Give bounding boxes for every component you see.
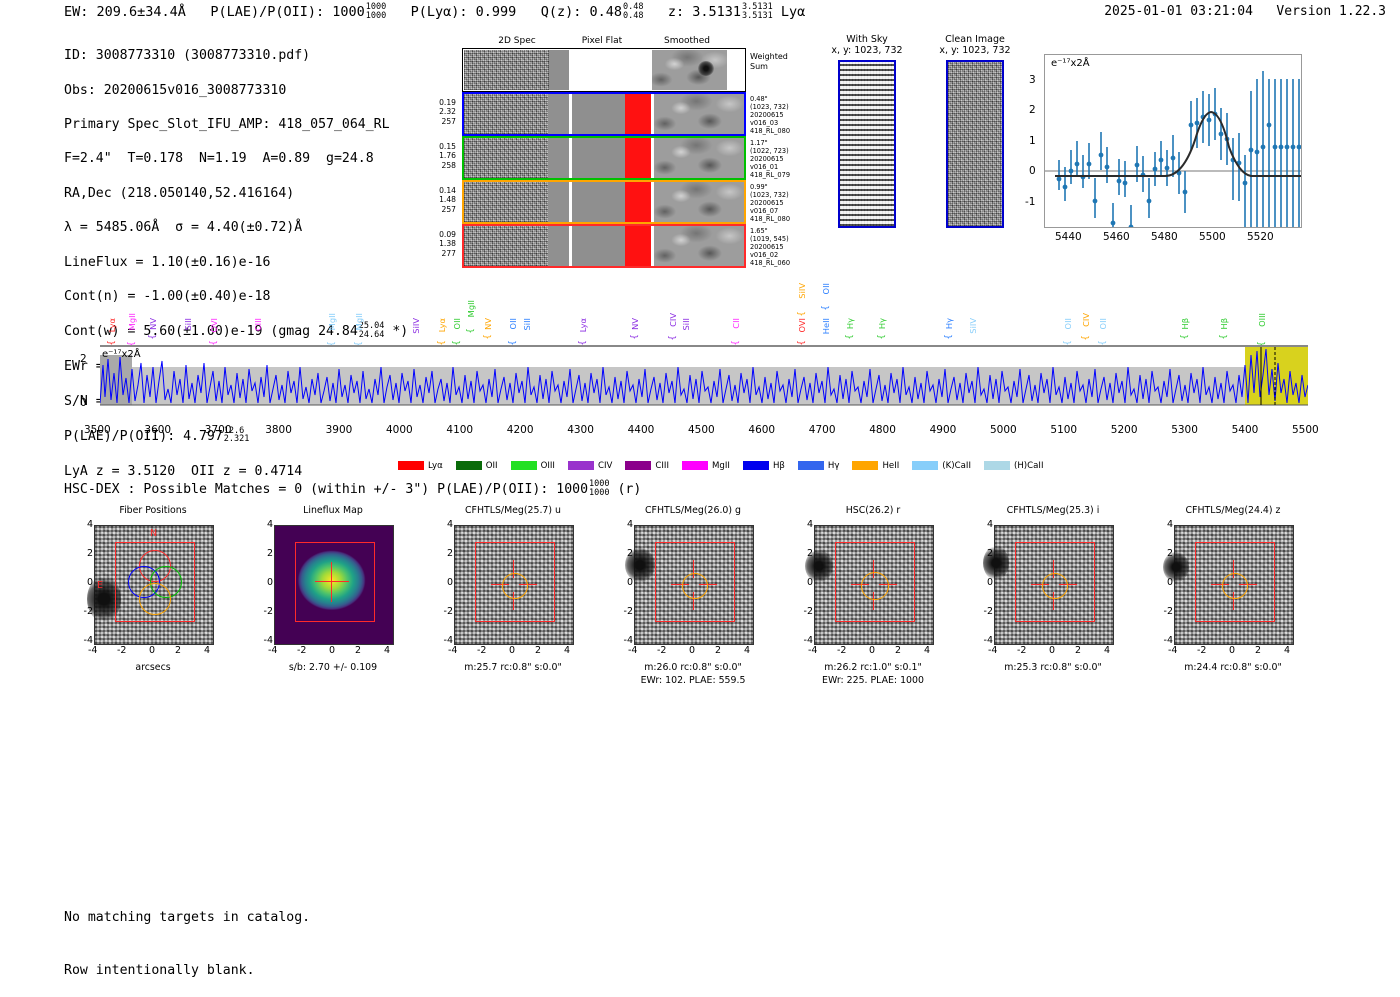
spectrum-xtick: 3900 [326,424,353,436]
cutout-title: CFHTLS/Meg(25.7) u [423,505,603,516]
spectrum-xtick: 3800 [265,424,292,436]
spectrum-line-bracket: { [877,334,887,340]
cutout-xtick: -4 [628,645,637,656]
spectrum-xtick: 5200 [1111,424,1138,436]
compass-north-label: N [150,528,157,539]
footer-line-2: Row intentionally blank. [64,962,310,980]
cutout-xtick: -4 [88,645,97,656]
cutout-panel-z-band: CFHTLS/Meg(24.4) z 4 2 0 -2 -4 -4 -2 0 2… [1143,505,1323,516]
cutout-caption: m:26.0 rc:0.8" s:0.0" [603,662,783,673]
cutout-title: HSC(26.2) r [783,505,963,516]
cutout-xtick: -2 [657,645,666,656]
cutout-xtick: 0 [509,645,515,656]
cutout-xtick: 2 [1075,645,1081,656]
cutout-yticks: 4 2 0 -2 -4 [251,525,273,643]
cutout-ytick: 4 [627,519,633,530]
cutout-ytick: -2 [444,606,453,617]
cutout-ytick: 2 [1167,548,1173,559]
cutout-panel-lineflux-map: Lineflux Map 4 2 0 -2 -4 -4 -2 0 2 4 s/b… [243,505,423,516]
spectrum-line-marker: CIV [668,313,678,327]
spectrum-line-marker: Hβ [1180,318,1190,330]
spectrum-xtick: 4400 [628,424,655,436]
spectrum-line-marker: Lyα [107,318,117,332]
spectrum-xtick: 5500 [1292,424,1319,436]
legend-label: Hβ [773,461,785,471]
cutout-image [454,525,574,645]
cutout-image [814,525,934,645]
cutout-yticks: 4 2 0 -2 -4 [791,525,813,643]
cutout-ytick: 0 [1167,577,1173,588]
spectrum-line-bracket: { [466,328,476,334]
spectrum-xtick: 4500 [688,424,715,436]
spectrum-line-marker: SiIV [411,318,421,334]
cutout-caption: m:24.4 rc:0.8" s:0.0" [1143,662,1323,673]
spectrum-xtick: 4700 [809,424,836,436]
cutout-ytick: 2 [447,548,453,559]
cutout-xtick: 0 [689,645,695,656]
spectrum-ylabel: e⁻¹⁷x2Å [102,349,141,360]
cutout-xtick: 4 [924,645,930,656]
compass-east-label: E [97,580,103,591]
cutout-ytick: 4 [267,519,273,530]
cutout-caption: s/b: 2.70 +/- 0.109 [243,662,423,673]
spectrum-line-bracket: { [1180,334,1190,340]
spectrum-line-marker: CIII [253,318,263,331]
cutout-title: CFHTLS/Meg(26.0) g [603,505,783,516]
aperture-circle [1222,573,1248,599]
cutout-ytick: 4 [987,519,993,530]
cutout-ytick: 4 [1167,519,1173,530]
legend-label: OIII [541,461,555,471]
spectrum-xticks: 3500360037003800390040004100420043004400… [100,424,1308,440]
cutout-ytick: 4 [87,519,93,530]
spectrum-xtick: 3500 [84,424,111,436]
cutout-ytick: 0 [87,577,93,588]
spectrum-line-marker: SiII [681,318,691,330]
spectrum-line-bracket: { [668,335,678,341]
aperture-circle [502,573,528,599]
cutout-xtick: 4 [1284,645,1290,656]
cutout-caption: m:25.3 rc:0.8" s:0.0" [963,662,1143,673]
spectrum-xtick: 4600 [748,424,775,436]
spectrum-line-bracket: { [483,334,493,340]
cutout-caption: m:26.2 rc:1.0" s:0.1" [783,662,963,673]
cutout-yticks: 4 2 0 -2 -4 [431,525,453,643]
cutout-xtick: -2 [1197,645,1206,656]
legend-swatch [984,461,1010,470]
cutout-row: Fiber Positions N E 4 2 0 -2 -4 -4 -2 0 … [0,505,1400,740]
cutout-xtick: -4 [268,645,277,656]
fiber-circle-orange [139,583,171,615]
cutout-xtick: 4 [744,645,750,656]
spectrum-line-bracket: { [630,334,640,340]
cutout-xtick: -4 [448,645,457,656]
spectrum-line-marker: MgII [327,313,337,330]
spectrum-line-bracket: { [1219,334,1229,340]
cutout-xtick: 2 [355,645,361,656]
spectrum-line-marker: OVI [797,318,807,333]
cutout-caption: arcsecs [63,662,243,673]
legend-label: MgII [712,461,730,471]
cutout-image [634,525,754,645]
spectrum-line-marker: OII [821,283,831,294]
cutout-image [1174,525,1294,645]
spectrum-line-bracket: { [797,311,807,317]
spectrum-xtick: 3700 [205,424,232,436]
spectrum-line-marker: OIII [1257,313,1267,327]
spectrum-chart: e⁻¹⁷x2Å 2 0 [100,345,1308,420]
legend-swatch [798,461,824,470]
cutout-xtick: -2 [1017,645,1026,656]
cutout-yticks: 4 2 0 -2 -4 [611,525,633,643]
spectrum-legend: LyαOIIOIIICIVCIIIMgIIHβHγHeII(K)CaII(H)C… [398,455,1018,469]
cutout-xtick: 4 [384,645,390,656]
spectrum-line-marker: NV [483,318,493,330]
info-redshifts: LyA z = 3.5120 OII z = 0.4714 [64,463,408,480]
spectrum-line-marker: Lyα [437,318,447,332]
spectrum-line-marker: MgII [354,313,364,330]
spectrum-line-bracket: { [1081,335,1091,341]
cutout-title: CFHTLS/Meg(25.3) i [963,505,1143,516]
cutout-ytick: -2 [984,606,993,617]
cutout-yticks: 4 2 0 -2 -4 [971,525,993,643]
spectrum-line-bracket: { [148,334,158,340]
cutout-caption-secondary: EWr: 225. PLAE: 1000 [783,675,963,686]
aperture-circle [682,573,708,599]
legend-label: CIV [598,461,612,471]
spectrum-line-marker: MgII [466,300,476,317]
spectrum-line-marker: Hγ [845,318,855,329]
cutout-xtick: 0 [869,645,875,656]
cutout-caption-secondary: EWr: 102. PLAE: 559.5 [603,675,783,686]
footer-note: No matching targets in catalog. Row inte… [64,874,310,997]
legend-swatch [568,461,594,470]
spectrum-line-marker: SiII [183,318,193,330]
cutout-yticks: 4 2 0 -2 -4 [71,525,93,643]
spectrum-xtick: 4000 [386,424,413,436]
crosshair-horizontal [315,581,349,582]
spectrum-line-marker: Lyα [578,318,588,332]
spectrum-xtick: 5400 [1232,424,1259,436]
cutout-image [274,525,394,645]
cutout-ytick: 0 [807,577,813,588]
cutout-panel-fiber-positions: Fiber Positions N E 4 2 0 -2 -4 -4 -2 0 … [63,505,243,516]
cutout-xtick: 2 [1255,645,1261,656]
spectrum-line-bracket: { [845,334,855,340]
hscdex-post: (r) [617,482,641,497]
cutout-xtick: -2 [477,645,486,656]
hscdex-summary: HSC-DEX : Possible Matches = 0 (within +… [64,480,641,497]
cutout-panel-i-band: CFHTLS/Meg(25.3) i 4 2 0 -2 -4 -4 -2 0 2… [963,505,1143,516]
spectrum-line-marker: NV [148,318,158,330]
cutout-yticks: 4 2 0 -2 -4 [1151,525,1173,643]
cutout-image [994,525,1114,645]
spectrum-line-marker: SiII [522,318,532,330]
spectrum-line-marker: OII [508,318,518,329]
spectrum-xtick: 5300 [1171,424,1198,436]
cutout-panel-g-band: CFHTLS/Meg(26.0) g 4 2 0 -2 -4 -4 -2 0 2… [603,505,783,516]
cutout-ytick: 4 [807,519,813,530]
spectrum-line-marker: Hγ [944,318,954,329]
legend-label: CIII [655,461,669,471]
legend-swatch [398,461,424,470]
cutout-xtick: 2 [175,645,181,656]
cutout-panel-u-band: CFHTLS/Meg(25.7) u 4 2 0 -2 -4 -4 -2 0 2… [423,505,603,516]
spectrum-line-bracket: { [944,334,954,340]
cutout-ytick: 0 [987,577,993,588]
spectrum-line-markers: Lyα{MgII{NV{SiII{OVI{CIII{MgII{MgII{SiIV… [0,0,1400,345]
spectrum-line-marker: CIV [1081,313,1091,327]
legend-label: Lyα [428,461,443,471]
cutout-ytick: 0 [627,577,633,588]
cutout-title: CFHTLS/Meg(24.4) z [1143,505,1323,516]
spectrum-line-marker: Hβ [1219,318,1229,330]
spectrum-xtick: 4200 [507,424,534,436]
cutout-caption: m:25.7 rc:0.8" s:0.0" [423,662,603,673]
legend-label: Hγ [828,461,840,471]
cutout-image: N E [94,525,214,645]
cutout-xtick: -4 [808,645,817,656]
legend-swatch [625,461,651,470]
spectrum-line-marker: OII [1063,318,1073,329]
cutout-ytick: 2 [807,548,813,559]
legend-swatch [912,461,938,470]
cutout-ytick: 0 [267,577,273,588]
legend-swatch [456,461,482,470]
spectrum-xtick: 4100 [446,424,473,436]
cutout-ytick: 2 [987,548,993,559]
legend-swatch [743,461,769,470]
cutout-ytick: -2 [1164,606,1173,617]
cutout-xtick: 0 [1049,645,1055,656]
spectrum-line-marker: MgII [127,313,137,330]
spectrum-line-marker: SiIV [968,318,978,334]
cutout-ytick: 2 [627,548,633,559]
spectrum-xtick: 5100 [1050,424,1077,436]
cutout-xtick: 2 [895,645,901,656]
cutout-xtick: 0 [149,645,155,656]
legend-label: OII [486,461,498,471]
spectrum-line-marker: OII [452,318,462,329]
aperture-circle [1042,573,1068,599]
cutout-xtick: -4 [1168,645,1177,656]
cutout-title: Fiber Positions [63,505,243,516]
legend-swatch [852,461,878,470]
cutout-ytick: -2 [804,606,813,617]
cutout-xtick: -2 [297,645,306,656]
aperture-circle [861,572,889,600]
legend-swatch [511,461,537,470]
cutout-xtick: 2 [535,645,541,656]
spectrum-xtick: 4800 [869,424,896,436]
cutout-ytick: -2 [624,606,633,617]
spectrum-line-marker: OII [1098,318,1108,329]
cutout-title: Lineflux Map [243,505,423,516]
spectrum-line-marker: HeII [821,318,831,334]
cutout-ytick: 4 [447,519,453,530]
legend-swatch [682,461,708,470]
spectrum-xtick: 5000 [990,424,1017,436]
spectrum-ytick: 0 [80,397,87,409]
legend-label: (K)CaII [942,461,971,471]
spectrum-line-bracket: { [821,305,831,311]
hscdex-lo: 1000 [589,488,609,498]
hscdex-pre: HSC-DEX : Possible Matches = 0 (within +… [64,482,588,497]
spectrum-xtick: 3600 [144,424,171,436]
cutout-xtick: -2 [837,645,846,656]
cutout-ytick: -2 [264,606,273,617]
cutout-ytick: 2 [87,548,93,559]
spectrum-line-marker: OVI [209,318,219,333]
legend-label: (H)CaII [1014,461,1044,471]
spectrum-plot-svg [100,345,1308,420]
cutout-ytick: 2 [267,548,273,559]
cutout-xtick: 4 [564,645,570,656]
cutout-xtick: 2 [715,645,721,656]
cutout-ytick: 0 [447,577,453,588]
cutout-xtick: 0 [1229,645,1235,656]
footer-line-1: No matching targets in catalog. [64,909,310,927]
cutout-xtick: 4 [204,645,210,656]
spectrum-line-marker: Hγ [877,318,887,329]
cutout-panel-r-band: HSC(26.2) r 4 2 0 -2 -4 -4 -2 0 2 4 m:26… [783,505,963,516]
cutout-xtick: 4 [1104,645,1110,656]
spectrum-xtick: 4300 [567,424,594,436]
cutout-ytick: -2 [84,606,93,617]
cutout-xtick: 0 [329,645,335,656]
legend-label: HeII [882,461,899,471]
spectrum-line-marker: NV [630,318,640,330]
spectrum-ytick: 2 [80,353,87,365]
spectrum-xtick: 4900 [930,424,957,436]
cutout-xtick: -2 [117,645,126,656]
cutout-xtick: -4 [988,645,997,656]
spectrum-line-marker: CII [731,318,741,329]
spectrum-line-marker: SiIV [797,283,807,299]
